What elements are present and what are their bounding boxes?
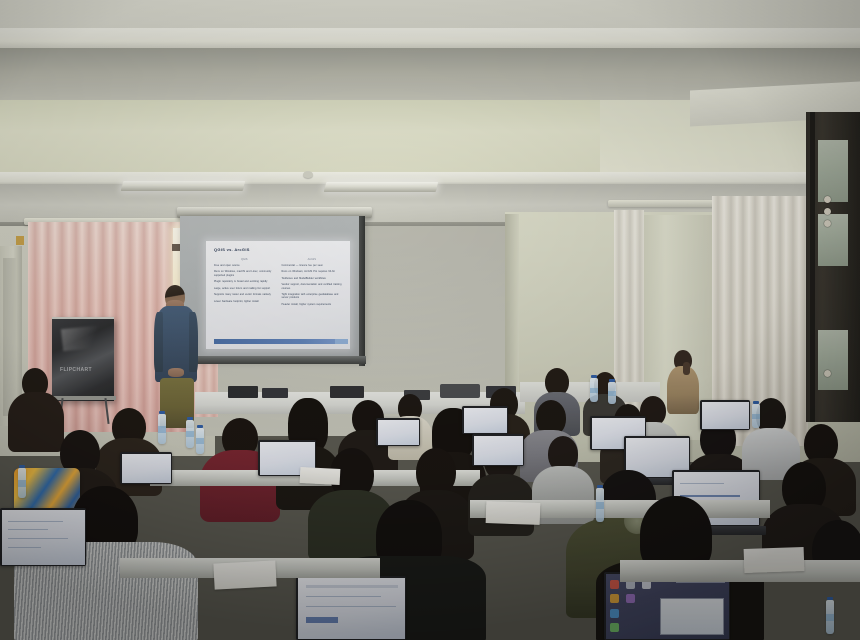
desktop-icon: [610, 580, 619, 589]
slide-row: Lower hardware footprint, lighter instal…: [214, 300, 275, 303]
laptop-lid: [700, 400, 750, 430]
flip-chart-leg: [104, 398, 109, 424]
water-bottle: [608, 382, 616, 404]
slide-row: Runs on Windows, macOS and Linux; commun…: [214, 270, 275, 276]
water-bottle: [752, 404, 760, 428]
laptop-screen: [378, 420, 419, 445]
blind-slat: [137, 222, 144, 432]
desk-row-front-right: [620, 560, 860, 582]
laptop-screen: [464, 408, 507, 433]
slide-row: Large, active user forum and mailing lis…: [214, 287, 275, 290]
back-monitor-2: [330, 386, 364, 398]
laptop-screen: [606, 574, 729, 639]
fluorescent-strip-left-icon: [121, 181, 245, 191]
desktop-icon: [610, 609, 619, 618]
projection-screen-edge: [359, 216, 365, 366]
water-bottle: [18, 468, 26, 498]
water-bottle: [826, 600, 834, 634]
desktop-icon: [626, 594, 635, 603]
slide-title: QGIS vs. ArcGIS: [214, 247, 344, 252]
laptop-lid: [296, 576, 406, 640]
window-hinge-mid-icon: [824, 208, 831, 215]
slide-row: Plugin repository is broad and evolving …: [214, 280, 275, 283]
back-monitor: [228, 386, 258, 398]
slide-column-right: ArcGIS Commercial — licence fee per seat…: [282, 258, 343, 309]
ceiling-top-band: [0, 0, 860, 30]
slide-column-left-header: QGIS: [214, 258, 275, 261]
blind-slat: [144, 222, 151, 432]
water-bottle: [596, 488, 604, 522]
laptop-lid: [376, 418, 420, 446]
slide-row: Supports many raster and vector formats …: [214, 293, 275, 296]
window-pane-middle: [818, 214, 848, 266]
back-equipment: [262, 388, 288, 398]
slide-row: Toolboxes and ModelBuilder workflows: [282, 277, 343, 280]
attendee-head: [416, 448, 456, 496]
projection-screen-weight-bar: [180, 356, 366, 364]
window-pane-top: [818, 140, 848, 202]
paper-sheet: [300, 467, 341, 485]
back-printer: [440, 384, 480, 398]
paper-sheet: [486, 501, 541, 525]
projected-slide: QGIS vs. ArcGIS QGIS Free and open sourc…: [206, 241, 350, 349]
blind-slat: [123, 222, 130, 432]
laptop-screen: [702, 402, 749, 429]
laptop-screen: [298, 578, 405, 639]
laptop-lid: [472, 434, 524, 466]
flip-chart-easel: FLIPCHART: [52, 317, 114, 401]
desktop-icon: [610, 594, 619, 603]
slide-columns: QGIS Free and open source Runs on Window…: [212, 258, 344, 309]
presenter-arm-right: [189, 312, 198, 372]
laptop-lid: [604, 572, 730, 640]
blind-slat: [130, 222, 137, 432]
window-hinge-lower-icon: [824, 220, 831, 227]
slide-row: Vendor support, documentation and certif…: [282, 283, 343, 289]
laptop-screen: [2, 510, 85, 565]
desktop-icon: [610, 623, 619, 632]
laptop-screen: [122, 454, 171, 483]
blind-bracket-icon: [16, 236, 24, 245]
water-bottle: [158, 414, 166, 444]
laptop-lid: [462, 406, 508, 434]
ceiling-beam-upper: [0, 28, 860, 50]
laptop-lid: [0, 508, 86, 566]
photo-scene: QGIS vs. ArcGIS QGIS Free and open sourc…: [0, 0, 860, 640]
door-panel-left: [3, 258, 17, 416]
attendee-body: [8, 392, 64, 452]
laptop-lid: [120, 452, 172, 484]
blind-slat: [116, 222, 123, 432]
paper-sheet: [744, 547, 805, 573]
window-hinge-upper-icon: [824, 196, 831, 203]
window-pane-bottom: [818, 330, 848, 390]
slide-row: Runs on Windows; ArcGIS Pro requires 64-…: [282, 270, 343, 273]
slide-row: Tight integration with enterprise geodat…: [282, 293, 343, 299]
water-bottle: [196, 428, 204, 454]
presenter-arm-left: [154, 312, 163, 372]
fluorescent-strip-right-icon: [324, 182, 438, 192]
water-bottle: [590, 378, 598, 402]
slide-column-left: QGIS Free and open source Runs on Window…: [214, 258, 275, 309]
flip-chart-glare: [61, 325, 107, 351]
slide-row: Heavier install, higher system requireme…: [282, 303, 343, 306]
window-mullion: [810, 112, 815, 422]
window-hinge-bottom-icon: [824, 370, 831, 377]
presenter-hands: [168, 368, 184, 377]
flip-chart-label: FLIPCHART: [60, 367, 110, 374]
water-bottle: [186, 420, 194, 448]
standing-attendee-hand: [683, 362, 690, 375]
flip-chart-legs: [56, 398, 112, 424]
slide-row: Commercial — licence fee per seat: [282, 264, 343, 267]
smoke-detector-icon: [303, 171, 313, 178]
slide-footer-tag: [335, 339, 348, 344]
slide-row: Free and open source: [214, 264, 275, 267]
desktop-window: [660, 598, 724, 634]
slide-column-right-header: ArcGIS: [282, 258, 343, 261]
paper-sheet: [213, 560, 276, 589]
laptop-screen: [474, 436, 523, 465]
slide-footer-bar: [214, 339, 342, 344]
